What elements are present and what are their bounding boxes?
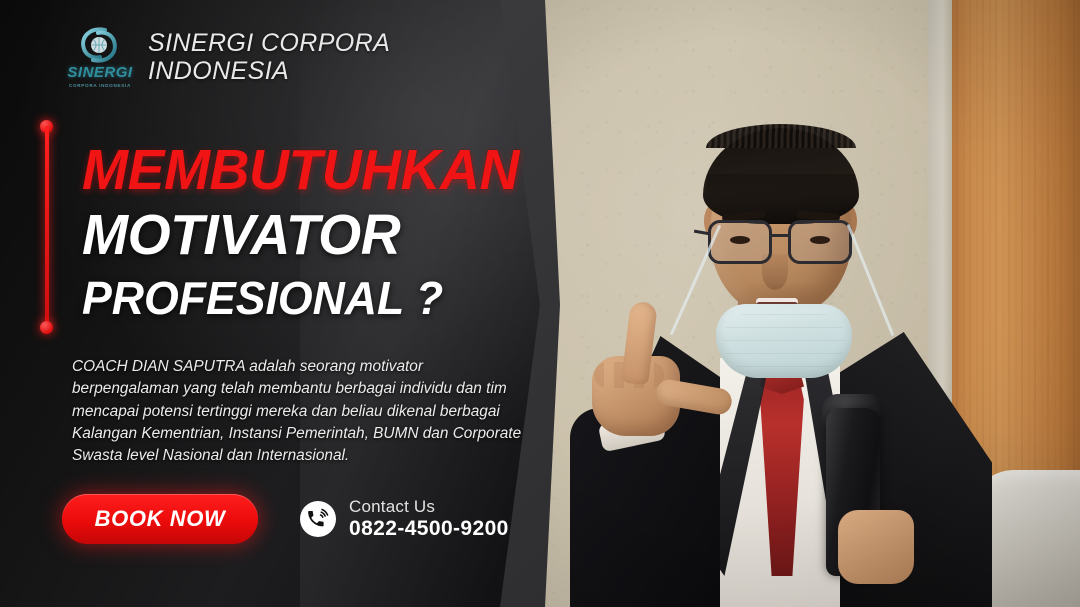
pin-line (45, 126, 49, 328)
brand-logo[interactable]: SINERGI CORPORA INDONESIA SINERGI CORPOR… (66, 26, 390, 88)
contact-text: Contact Us 0822-4500-9200 (349, 497, 509, 542)
eye-left (730, 236, 750, 244)
face-mask (716, 304, 852, 378)
book-now-button[interactable]: BOOK NOW (62, 494, 258, 544)
headline-block: MEMBUTUHKAN MOTIVATOR PROFESIONAL ? (82, 142, 532, 321)
contact-group[interactable]: Contact Us 0822-4500-9200 (300, 497, 509, 542)
cta-row: BOOK NOW Contact Us 0822-4500-9200 (62, 494, 509, 544)
phone-ringing-icon[interactable] (300, 501, 336, 537)
brand-name-line2: INDONESIA (148, 57, 390, 86)
hand-holding-microphone (838, 510, 914, 584)
description-paragraph: COACH DIAN SAPUTRA adalah seorang motiva… (72, 356, 534, 468)
mask-pleats (724, 314, 844, 368)
logo-mark: SINERGI CORPORA INDONESIA (66, 26, 134, 88)
promo-banner: SINERGI CORPORA INDONESIA SINERGI CORPOR… (0, 0, 1080, 607)
speaker-figure (570, 108, 990, 607)
headline-line-3: PROFESIONAL ? (82, 275, 519, 321)
eye-right (810, 236, 830, 244)
contact-label: Contact Us (349, 497, 509, 517)
contact-phone-number[interactable]: 0822-4500-9200 (349, 517, 509, 542)
brand-name: SINERGI CORPORA INDONESIA (148, 29, 390, 86)
hand-gesture (586, 308, 704, 440)
eyeglasses-icon (702, 220, 862, 268)
headline-line-2: MOTIVATOR (82, 207, 519, 264)
logo-wordmark: SINERGI (66, 65, 134, 80)
glasses-bridge (772, 234, 790, 237)
red-pin-line-divider (40, 120, 53, 334)
brand-name-line1: SINERGI CORPORA (148, 29, 390, 58)
hair-spikes (706, 124, 856, 148)
swirl-globe-icon (78, 26, 120, 64)
headline-line-1: MEMBUTUHKAN (82, 142, 519, 199)
pin-dot-bottom (40, 321, 53, 334)
logo-tagline: CORPORA INDONESIA (66, 83, 134, 88)
